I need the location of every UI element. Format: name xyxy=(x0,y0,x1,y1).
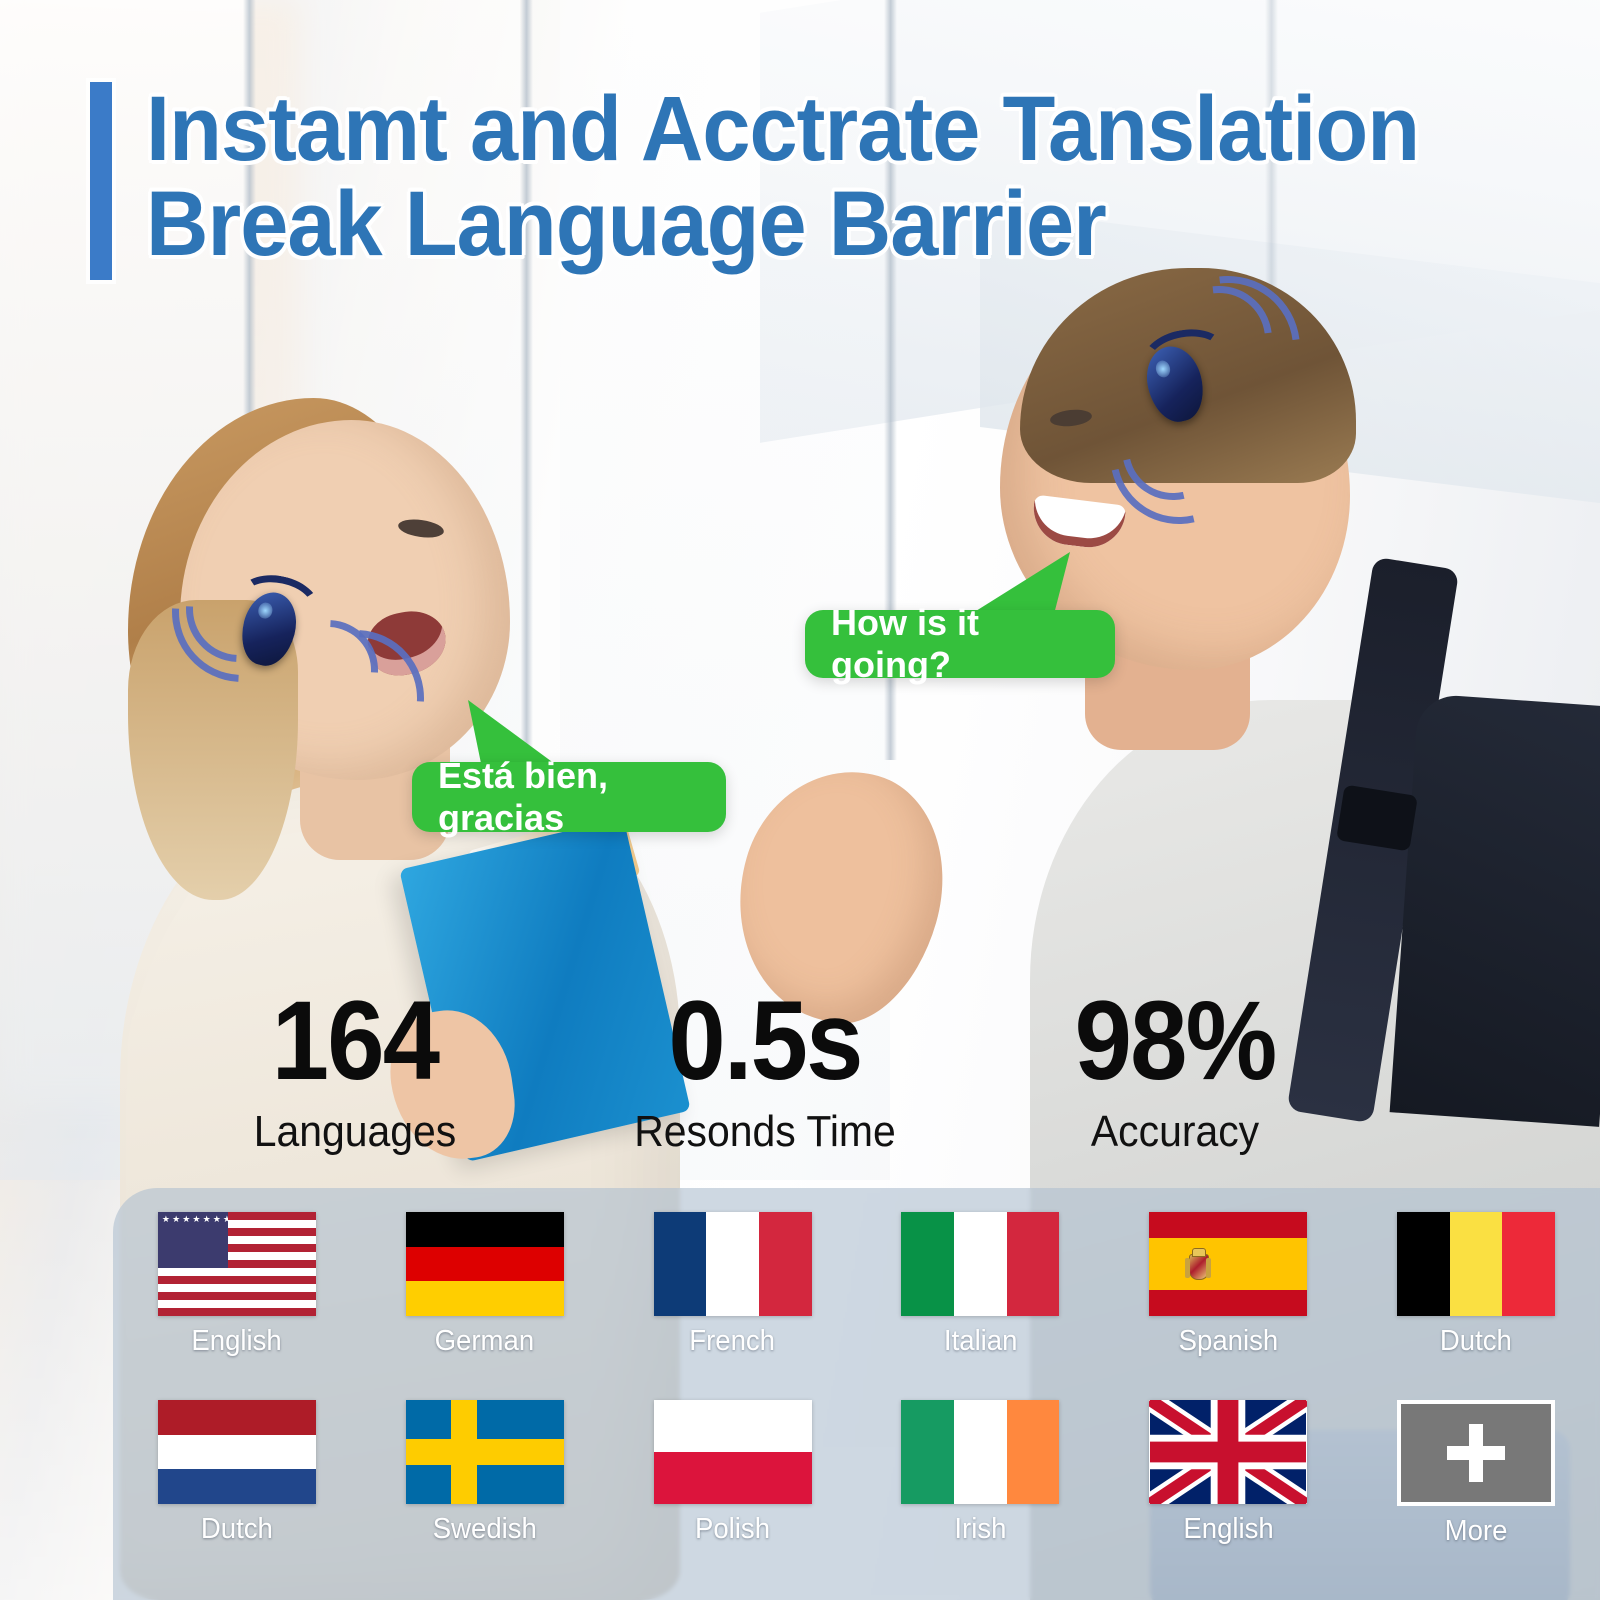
flag-be-icon xyxy=(1397,1212,1555,1316)
product-marketing-image: Instamt and Acctrate Tanslation Break La… xyxy=(0,0,1600,1600)
flag-row-1: ★★★★★★★★★★★★★★★★★★★★★★★★★★★★★★★★★★★★★★★★… xyxy=(113,1212,1600,1358)
speech-bubble-man-body: How is it going? xyxy=(805,610,1115,678)
flag-se-icon xyxy=(406,1400,564,1504)
man-strap-buckle xyxy=(1336,785,1418,852)
flag-label: Spanish xyxy=(1178,1325,1278,1358)
headline-accent-bar xyxy=(90,82,112,280)
flag-item-dutch[interactable]: Dutch xyxy=(113,1400,361,1548)
flag-item-italian[interactable]: Italian xyxy=(856,1212,1104,1358)
flag-item-swedish[interactable]: Swedish xyxy=(361,1400,609,1548)
flag-pl-icon xyxy=(654,1400,812,1504)
flag-item-french[interactable]: French xyxy=(609,1212,857,1358)
speech-bubble-woman-body: Está bien, gracias xyxy=(412,762,726,832)
flag-item-more[interactable]: More xyxy=(1352,1400,1600,1548)
flag-item-english-gb[interactable]: English xyxy=(1104,1400,1352,1548)
plus-icon xyxy=(1447,1424,1505,1482)
stat-response-time-label: Resonds Time xyxy=(574,1107,955,1157)
flag-gb-icon xyxy=(1149,1400,1307,1504)
stat-languages-label: Languages xyxy=(164,1107,545,1157)
man-backpack xyxy=(1390,693,1600,1127)
stat-accuracy-label: Accuracy xyxy=(984,1107,1365,1157)
flag-item-spanish[interactable]: Spanish xyxy=(1104,1212,1352,1358)
flag-label: Italian xyxy=(944,1325,1018,1358)
flag-us-icon: ★★★★★★★★★★★★★★★★★★★★★★★★★★★★★★★★★★★★★★★★… xyxy=(158,1212,316,1316)
flag-item-english-us[interactable]: ★★★★★★★★★★★★★★★★★★★★★★★★★★★★★★★★★★★★★★★★… xyxy=(113,1212,361,1358)
flag-label: French xyxy=(690,1325,776,1358)
stat-response-time: 0.5s Resonds Time xyxy=(560,985,970,1157)
flag-item-irish[interactable]: Irish xyxy=(856,1400,1104,1548)
flag-row-2: Dutch Swedish Polish xyxy=(113,1400,1600,1548)
speech-bubble-woman-text: Está bien, gracias xyxy=(438,755,700,839)
language-flags-panel: ★★★★★★★★★★★★★★★★★★★★★★★★★★★★★★★★★★★★★★★★… xyxy=(113,1188,1600,1600)
flag-label: Swedish xyxy=(433,1513,537,1546)
headline-line-2: Break Language Barrier xyxy=(146,177,1419,272)
flag-item-dutch-belgian[interactable]: Dutch xyxy=(1352,1212,1600,1358)
flag-ie-icon xyxy=(901,1400,1059,1504)
more-languages-button[interactable] xyxy=(1397,1400,1555,1506)
flag-label: Dutch xyxy=(1440,1325,1512,1358)
stat-accuracy-value: 98% xyxy=(986,985,1363,1097)
flag-item-polish[interactable]: Polish xyxy=(609,1400,857,1548)
flag-label: German xyxy=(435,1325,535,1358)
headline: Instamt and Acctrate Tanslation Break La… xyxy=(90,82,1500,280)
stat-languages: 164 Languages xyxy=(150,985,560,1157)
flag-item-german[interactable]: German xyxy=(361,1212,609,1358)
flag-label: Polish xyxy=(695,1513,770,1546)
flag-label: Dutch xyxy=(201,1513,273,1546)
stats-row: 164 Languages 0.5s Resonds Time 98% Accu… xyxy=(150,985,1380,1157)
stat-response-time-value: 0.5s xyxy=(576,985,953,1097)
headline-line-1: Instamt and Acctrate Tanslation xyxy=(146,82,1419,177)
stat-languages-value: 164 xyxy=(166,985,543,1097)
flag-nl-icon xyxy=(158,1400,316,1504)
flag-label: English xyxy=(192,1325,282,1358)
flag-label: More xyxy=(1445,1515,1508,1548)
flag-it-icon xyxy=(901,1212,1059,1316)
flag-es-icon xyxy=(1149,1212,1307,1316)
flag-label: English xyxy=(1183,1513,1273,1546)
flag-fr-icon xyxy=(654,1212,812,1316)
stat-accuracy: 98% Accuracy xyxy=(970,985,1380,1157)
flag-label: Irish xyxy=(954,1513,1006,1546)
speech-bubble-man-text: How is it going? xyxy=(831,602,1089,686)
flag-de-icon xyxy=(406,1212,564,1316)
